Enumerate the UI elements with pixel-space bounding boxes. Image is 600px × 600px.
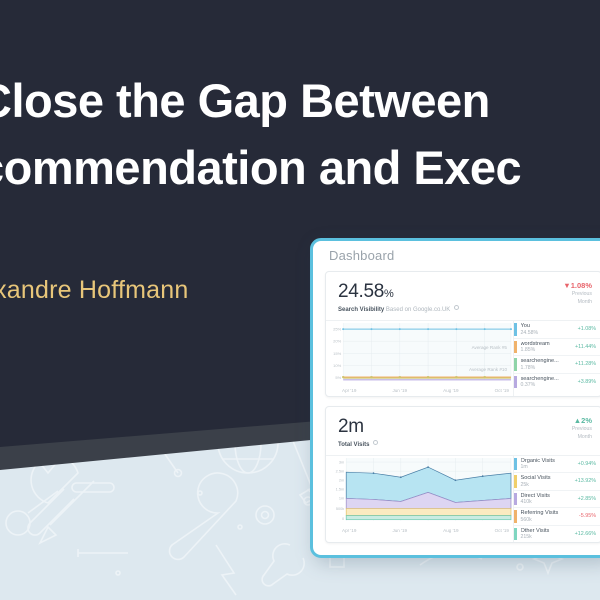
svg-text:2m: 2m xyxy=(339,478,344,482)
legend-value: 410k xyxy=(521,499,578,505)
x-tick-3: Oct '19 xyxy=(495,528,509,533)
card-body: 25% 20% 15% 10% 5% xyxy=(326,320,600,396)
card-header: 2m Total Visits ▲2% Previous Month xyxy=(326,407,600,455)
legend-item[interactable]: Social Visits 25k +13.92% xyxy=(514,473,600,491)
chart-search-visibility[interactable]: 25% 20% 15% 10% 5% xyxy=(326,321,513,396)
page-title: Close the Gap Between commendation and E… xyxy=(0,68,600,201)
delta-label-line-2: Month xyxy=(563,299,592,306)
legend-change: +13.92% xyxy=(575,478,600,484)
legend-change: +12.66% xyxy=(575,531,600,537)
legend-value: 25k xyxy=(521,482,575,488)
legend-change: +3.89% xyxy=(578,379,600,385)
legend-change: +1.08% xyxy=(578,326,600,332)
legend-change: +2.85% xyxy=(578,496,600,502)
arrow-down-icon: ▼ xyxy=(563,281,570,290)
legend-label: Organic Visits xyxy=(521,458,578,464)
delta-label-line-1: Previous xyxy=(563,291,592,298)
x-tick-0: Apr '19 xyxy=(342,388,356,393)
legend-change: +11.44% xyxy=(575,344,600,350)
card-body: 3m 2.5m 2m 1.5m 1m 500k 0 xyxy=(326,455,600,543)
legend-item[interactable]: Organic Visits 1m +0.94% xyxy=(514,456,600,474)
svg-text:500k: 500k xyxy=(336,507,344,511)
x-tick-2: Aug '19 xyxy=(443,388,458,393)
legend-swatch xyxy=(514,341,517,354)
legend-swatch xyxy=(514,323,517,336)
card-header: 24.58% Search Visibility Based on Google… xyxy=(326,272,600,320)
svg-text:15%: 15% xyxy=(333,351,341,356)
svg-text:0: 0 xyxy=(342,517,344,521)
svg-text:20%: 20% xyxy=(333,339,341,344)
legend-swatch xyxy=(514,510,517,523)
legend-swatch xyxy=(514,376,517,389)
metric-card-total-visits[interactable]: 2m Total Visits ▲2% Previous Month xyxy=(325,406,600,544)
legend-change: +11.28% xyxy=(575,361,600,367)
svg-text:5%: 5% xyxy=(335,375,341,380)
svg-text:2.5m: 2.5m xyxy=(336,469,345,473)
chart-legend[interactable]: Organic Visits 1m +0.94% Social Visits 2… xyxy=(513,456,600,543)
kpi-caption: Total Visits xyxy=(338,440,591,448)
line-chart-svg: 25% 20% 15% 10% 5% xyxy=(326,321,513,388)
legend-label: Social Visits xyxy=(521,475,575,481)
info-icon[interactable] xyxy=(454,305,459,310)
legend-item[interactable]: Referring Visits 560k -5.95% xyxy=(514,508,600,526)
legend-change: -5.95% xyxy=(579,513,600,519)
dashboard-header-label: Dashboard xyxy=(313,241,600,271)
legend-value: 1m xyxy=(521,464,578,470)
kpi-value: 24.58% xyxy=(338,281,591,303)
legend-item[interactable]: wordstream 1.85% +11.44% xyxy=(514,339,600,357)
legend-label: searchengine... xyxy=(521,376,578,382)
x-tick-1: Jun '19 xyxy=(392,388,407,393)
delta-number: 1.08% xyxy=(571,281,592,290)
chart-total-visits[interactable]: 3m 2.5m 2m 1.5m 1m 500k 0 xyxy=(326,456,513,543)
legend-item[interactable]: Other Visits 215k +12.66% xyxy=(514,526,600,543)
chart-legend[interactable]: You 24.58% +1.08% wordstream 1.85% +11.4… xyxy=(513,321,600,396)
delta-value: ▼1.08% xyxy=(563,281,592,290)
author-name: exandre Hoffmann xyxy=(0,276,188,305)
legend-value: 0.37% xyxy=(521,382,578,388)
legend-item[interactable]: You 24.58% +1.08% xyxy=(514,321,600,339)
metric-label: Search Visibility xyxy=(338,307,384,313)
x-axis-labels: Apr '19 Jun '19 Aug '19 Oct '19 xyxy=(326,528,513,536)
chart-annotation-rank-5: Average Rank #5 xyxy=(472,345,507,350)
legend-value: 215k xyxy=(521,534,575,540)
legend-label: You xyxy=(521,323,578,329)
legend-swatch xyxy=(514,475,517,488)
kpi-value: 2m xyxy=(338,416,591,438)
x-axis-labels: Apr '19 Jun '19 Aug '19 Oct '19 xyxy=(326,388,513,396)
dashboard-window[interactable]: Dashboard 24.58% Search Visibility Based… xyxy=(310,238,600,558)
metric-sublabel: Based on Google.co.UK xyxy=(386,307,450,313)
legend-label: Other Visits xyxy=(521,528,575,534)
delta-badge: ▼1.08% Previous Month xyxy=(563,281,592,306)
x-tick-3: Oct '19 xyxy=(495,388,509,393)
legend-label: Direct Visits xyxy=(521,493,578,499)
svg-text:25%: 25% xyxy=(333,327,341,332)
area-chart-svg: 3m 2.5m 2m 1.5m 1m 500k 0 xyxy=(326,456,513,529)
title-line-2: commendation and Exec xyxy=(0,135,600,202)
legend-swatch xyxy=(514,493,517,506)
kpi-caption: Search Visibility Based on Google.co.UK xyxy=(338,305,591,313)
chart-annotation-rank-10: Average Rank #10 xyxy=(469,367,507,372)
x-tick-0: Apr '19 xyxy=(342,528,356,533)
svg-text:1.5m: 1.5m xyxy=(336,487,345,491)
legend-item[interactable]: searchengine... 0.37% +3.89% xyxy=(514,374,600,391)
kpi-number: 2m xyxy=(338,416,364,437)
delta-label-line-1: Previous xyxy=(572,426,592,433)
legend-item[interactable]: searchengine... 1.78% +11.28% xyxy=(514,356,600,374)
delta-label-line-2: Month xyxy=(572,434,592,441)
kpi-unit: % xyxy=(384,288,393,300)
kpi-number: 24.58 xyxy=(338,281,384,302)
metric-card-search-visibility[interactable]: 24.58% Search Visibility Based on Google… xyxy=(325,271,600,397)
delta-number: 2% xyxy=(581,416,592,425)
svg-text:3m: 3m xyxy=(339,460,344,464)
legend-label: Referring Visits xyxy=(521,510,579,516)
legend-value: 560k xyxy=(521,517,579,523)
svg-text:10%: 10% xyxy=(333,363,341,368)
delta-value: ▲2% xyxy=(572,416,592,425)
legend-change: +0.94% xyxy=(578,461,600,467)
x-tick-1: Jun '19 xyxy=(392,528,407,533)
legend-value: 1.85% xyxy=(521,347,575,353)
title-line-1: Close the Gap Between xyxy=(0,74,490,127)
delta-badge: ▲2% Previous Month xyxy=(572,416,592,441)
svg-text:1m: 1m xyxy=(339,496,344,500)
info-icon[interactable] xyxy=(373,440,378,445)
legend-value: 24.58% xyxy=(521,330,578,336)
metric-label: Total Visits xyxy=(338,442,369,448)
x-tick-2: Aug '19 xyxy=(443,528,458,533)
legend-label: searchengine... xyxy=(521,358,575,364)
legend-value: 1.78% xyxy=(521,365,575,371)
legend-item[interactable]: Direct Visits 410k +2.85% xyxy=(514,491,600,509)
legend-label: wordstream xyxy=(521,341,575,347)
legend-swatch xyxy=(514,528,517,541)
legend-swatch xyxy=(514,358,517,371)
legend-swatch xyxy=(514,458,517,471)
